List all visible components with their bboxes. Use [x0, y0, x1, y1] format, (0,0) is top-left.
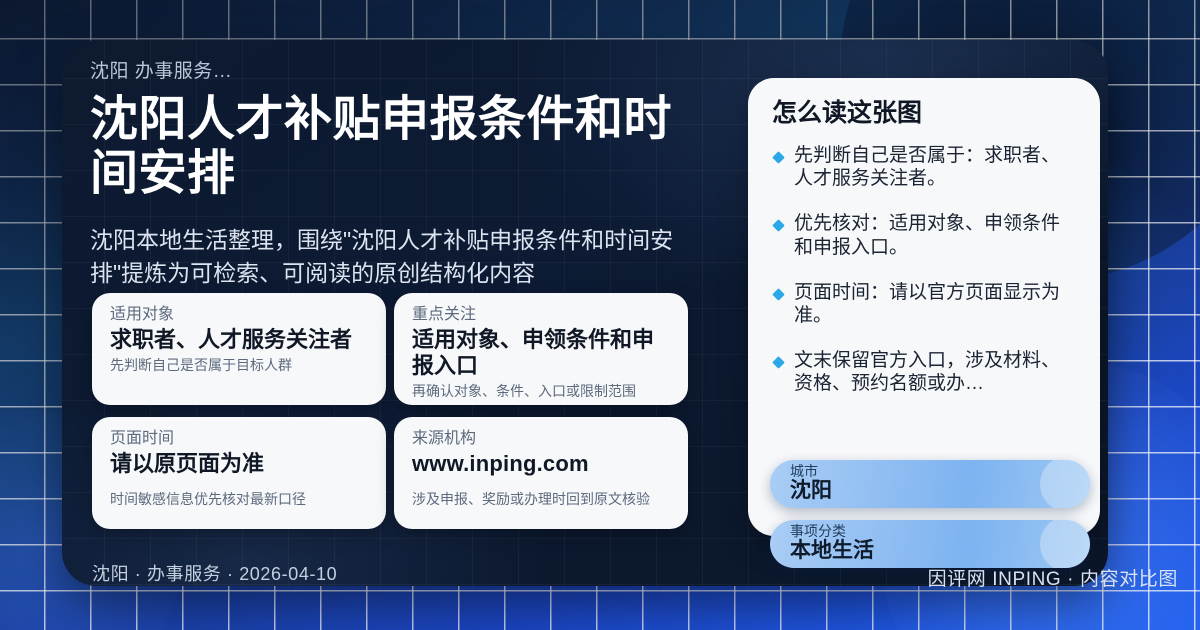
list-item-text: 优先核对：适用对象、申领条件和申报入口。	[794, 213, 1060, 257]
fact-card-label: 页面时间	[110, 428, 370, 450]
list-item-text: 先判断自己是否属于：求职者、人才服务关注者。	[794, 145, 1060, 189]
fact-card-label: 来源机构	[412, 428, 672, 450]
fact-card-grid: 适用对象 求职者、人才服务关注者 先判断自己是否属于目标人群 重点关注 适用对象…	[92, 293, 684, 529]
tag-pill-category: 事项分类 本地生活	[770, 520, 1090, 568]
pill-value: 本地生活	[790, 539, 1072, 563]
pill-label: 城市	[790, 464, 1072, 479]
list-item: 页面时间：请以官方页面显示为准。	[772, 281, 1078, 327]
header-block: 沈阳 办事服务… 沈阳人才补贴申报条件和时间安排 沈阳本地生活整理，围绕"沈阳人…	[90, 58, 710, 289]
fact-card-note: 再确认对象、条件、入口或限制范围	[412, 383, 672, 401]
fact-card-note: 涉及申报、奖励或办理时回到原文核验	[412, 491, 672, 509]
fact-card-value: www.inping.com	[412, 451, 672, 477]
pill-label: 事项分类	[790, 524, 1072, 539]
diamond-bullet-icon	[772, 219, 785, 232]
footer-left-text: 沈阳 · 办事服务 · 2026-04-10	[92, 560, 337, 586]
fact-card: 来源机构 www.inping.com 涉及申报、奖励或办理时回到原文核验	[394, 417, 688, 529]
footer-right-watermark: 因评网 INPING · 内容对比图	[928, 564, 1178, 591]
diamond-bullet-icon	[772, 356, 785, 369]
pill-value: 沈阳	[790, 479, 1072, 503]
fact-card: 适用对象 求职者、人才服务关注者 先判断自己是否属于目标人群	[92, 293, 386, 405]
fact-card: 页面时间 请以原页面为准 时间敏感信息优先核对最新口径	[92, 417, 386, 529]
diamond-bullet-icon	[772, 288, 785, 301]
fact-card-note: 时间敏感信息优先核对最新口径	[110, 491, 370, 509]
diamond-bullet-icon	[772, 151, 785, 164]
list-item: 文末保留官方入口，涉及材料、资格、预约名额或办…	[772, 349, 1078, 395]
fact-card-label: 适用对象	[110, 304, 370, 326]
side-panel-title: 怎么读这张图	[772, 98, 1078, 128]
list-item: 优先核对：适用对象、申领条件和申报入口。	[772, 212, 1078, 258]
fact-card: 重点关注 适用对象、申领条件和申报入口 再确认对象、条件、入口或限制范围	[394, 293, 688, 405]
side-panel-list: 先判断自己是否属于：求职者、人才服务关注者。 优先核对：适用对象、申领条件和申报…	[772, 144, 1078, 395]
tag-pill-city: 城市 沈阳	[770, 460, 1090, 508]
page-subtitle: 沈阳本地生活整理，围绕"沈阳人才补贴申报条件和时间安排"提炼为可检索、可阅读的原…	[90, 224, 710, 289]
page-title: 沈阳人才补贴申报条件和时间安排	[90, 93, 710, 202]
list-item: 先判断自己是否属于：求职者、人才服务关注者。	[772, 144, 1078, 190]
list-item-text: 文末保留官方入口，涉及材料、资格、预约名额或办…	[794, 350, 1060, 394]
fact-card-label: 重点关注	[412, 304, 672, 326]
tag-pill-group: 城市 沈阳 事项分类 本地生活	[770, 460, 1090, 580]
fact-card-value: 请以原页面为准	[110, 451, 370, 477]
list-item-text: 页面时间：请以官方页面显示为准。	[794, 282, 1060, 326]
breadcrumb-eyebrow: 沈阳 办事服务…	[90, 58, 710, 87]
fact-card-value: 求职者、人才服务关注者	[110, 327, 370, 353]
fact-card-value: 适用对象、申领条件和申报入口	[412, 327, 672, 380]
fact-card-note: 先判断自己是否属于目标人群	[110, 357, 370, 375]
